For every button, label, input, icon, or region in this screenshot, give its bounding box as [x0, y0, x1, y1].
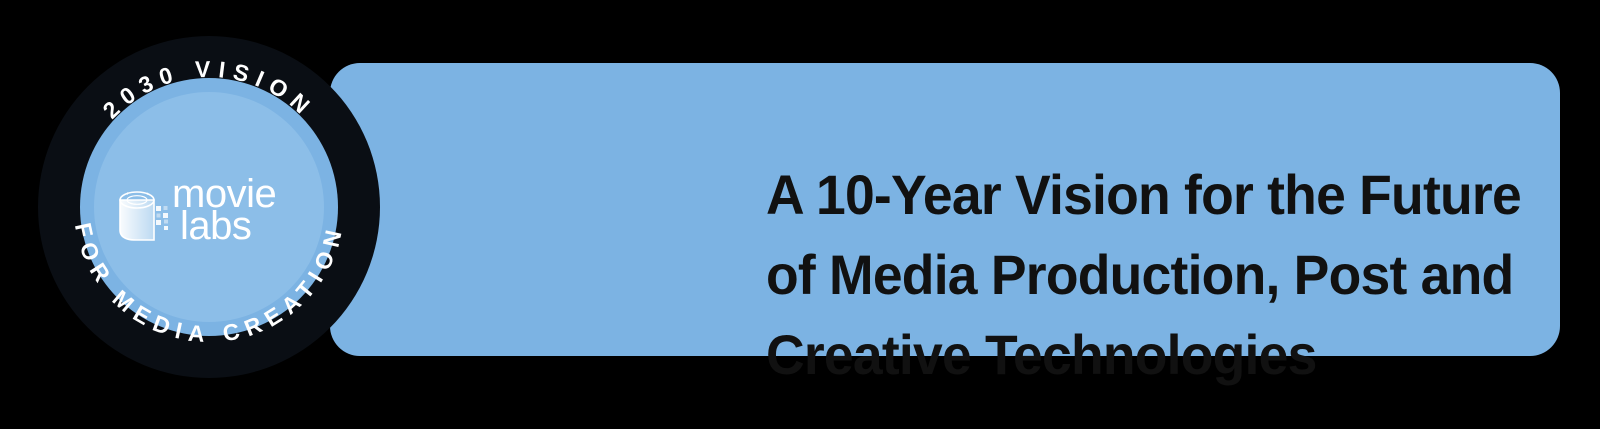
title-line-2: of Media Production, Post and: [766, 235, 1600, 315]
badge-logo-word-labs: labs: [180, 206, 251, 246]
badge-top-arc-text: 2030 VISION: [98, 56, 321, 124]
title-line-3: Creative Technologies: [766, 315, 1600, 395]
badge-movielabs-logo: movie labs: [110, 176, 310, 248]
title-line-1: A 10-Year Vision for the Future: [766, 155, 1600, 235]
page-title: A 10-Year Vision for the Future of Media…: [766, 155, 1600, 395]
vision-banner: A 10-Year Vision for the Future of Media…: [0, 0, 1600, 429]
movielabs-film-reel-icon: [110, 180, 176, 246]
title-panel: A 10-Year Vision for the Future of Media…: [330, 63, 1560, 356]
vision-seal-badge: 2030 VISION FOR MEDIA CREATION: [38, 36, 380, 378]
